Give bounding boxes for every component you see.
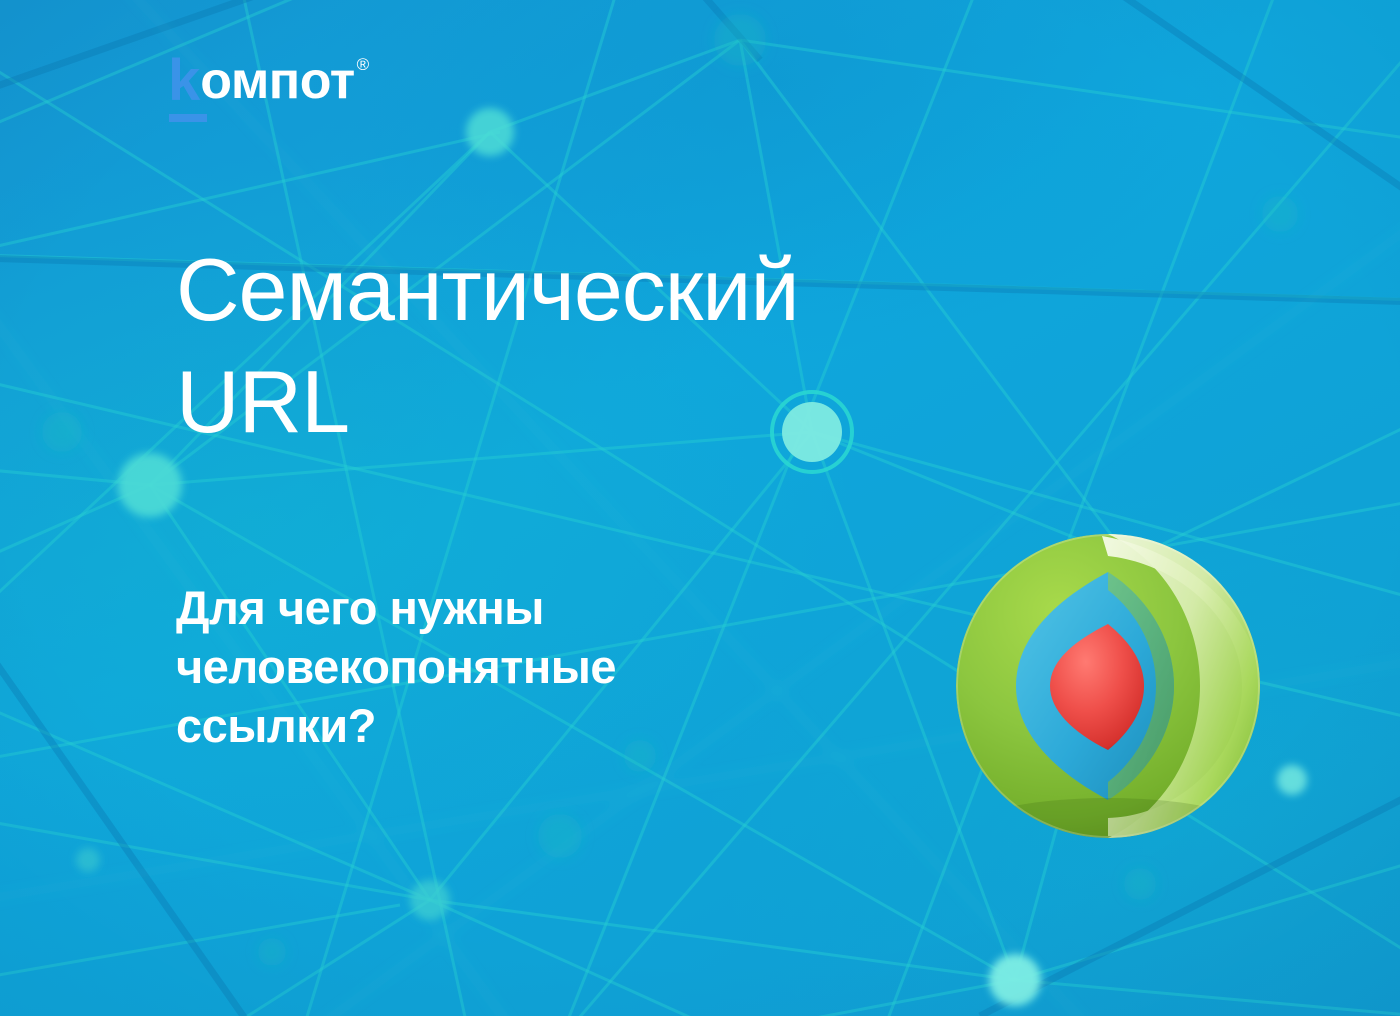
logo-underline-bar	[169, 114, 207, 122]
registered-trademark-icon: ®	[357, 56, 370, 73]
page-subtitle: Для чего нужны человекопонятные ссылки?	[176, 578, 876, 755]
layered-sphere-illustration	[950, 528, 1266, 844]
kompot-logo[interactable]: k омпот ®	[168, 52, 369, 110]
sphere-icon	[950, 528, 1266, 844]
logo-k-mark: k	[168, 52, 199, 110]
logo-wordmark: омпот	[200, 52, 354, 110]
network-plexus-background	[0, 0, 1400, 1016]
page-title: Семантический URL	[176, 234, 1036, 458]
logo-first-letter: k	[168, 52, 199, 110]
promo-banner: k омпот ® Семантический URL Для чего нуж…	[0, 0, 1400, 1016]
